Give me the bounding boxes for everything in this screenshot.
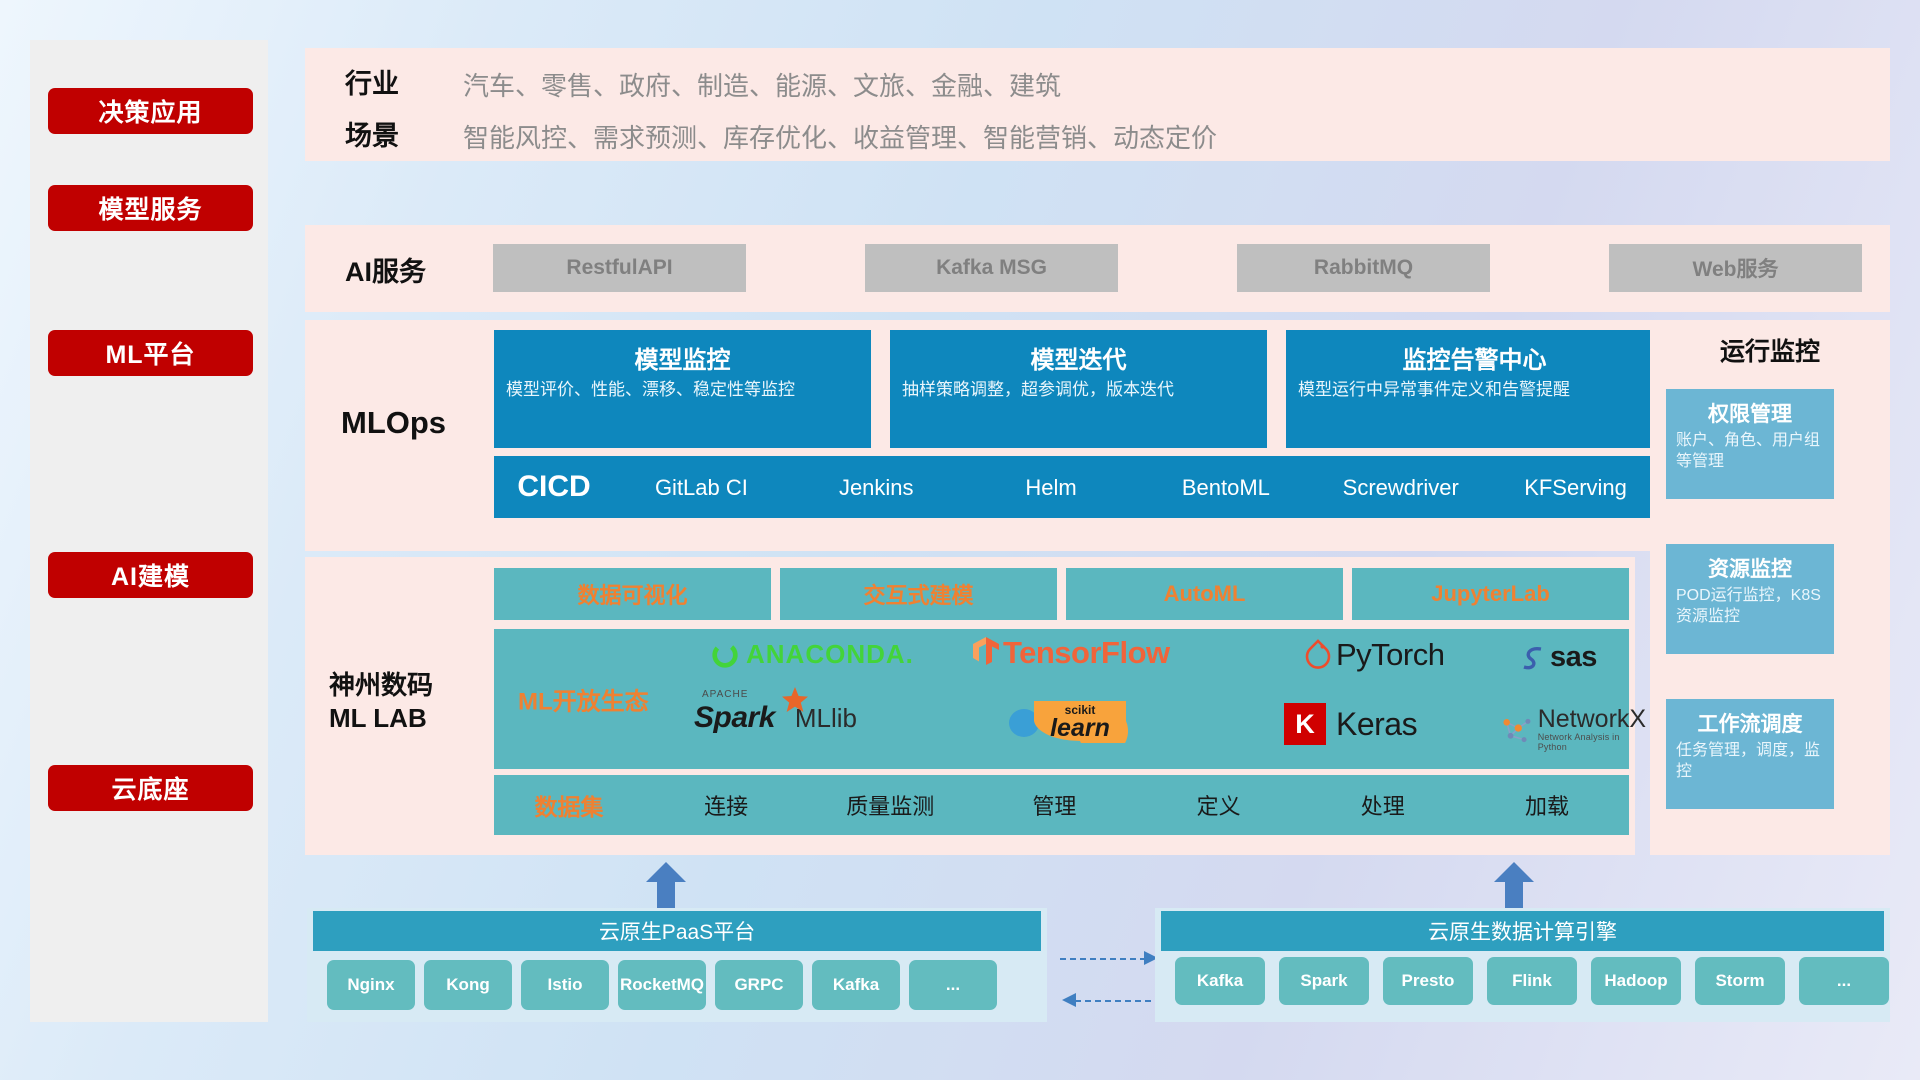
engine-chip-presto[interactable]: Presto [1383, 957, 1473, 1005]
paas-chip-istio[interactable]: Istio [521, 960, 609, 1010]
monitoring-card-workflow[interactable]: 工作流调度 任务管理，调度，监控 [1666, 699, 1834, 809]
mlops-card-desc: 模型评价、性能、漂移、稳定性等监控 [494, 379, 871, 402]
stage-label: ML平台 [105, 335, 195, 371]
industry-row-value: 汽车、零售、政府、制造、能源、文旅、金融、建筑 [463, 66, 1061, 103]
tensorflow-mark-icon [972, 636, 1000, 670]
stage-chip-cloud-base[interactable]: 云底座 [48, 765, 253, 811]
paas-chip-grpc[interactable]: GRPC [715, 960, 803, 1010]
industry-row-label: 行业 [345, 62, 399, 101]
ml-ecosystem-block: ML开放生态 ANACONDA. [494, 629, 1629, 769]
networkx-logo-text: NetworkX [1538, 707, 1648, 732]
scenario-row-label: 场景 [345, 114, 399, 153]
dataset-label: 数据集 [494, 788, 644, 822]
mlops-card-title: 监控告警中心 [1286, 330, 1663, 379]
pytorch-mark-icon [1304, 639, 1332, 671]
service-chip-restfulapi[interactable]: RestfulAPI [493, 244, 746, 292]
dataset-item-quality-monitor[interactable]: 质量监测 [808, 789, 972, 821]
ml-lab-title-line1: 神州数码 [329, 669, 433, 702]
keras-logo: K Keras [1284, 703, 1417, 745]
stage-chip-ml-platform[interactable]: ML平台 [48, 330, 253, 376]
paas-chip-rocketmq[interactable]: RocketMQ [618, 960, 706, 1010]
dataset-item-manage[interactable]: 管理 [972, 789, 1136, 821]
cicd-title: CICD [494, 456, 614, 504]
engine-chip-flink[interactable]: Flink [1487, 957, 1577, 1005]
stage-chip-ai-modeling[interactable]: AI建模 [48, 552, 253, 598]
monitoring-column: 运行监控 权限管理 账户、角色、用户组等管理 资源监控 POD运行监控，K8S资… [1650, 320, 1890, 855]
monitoring-card-permission[interactable]: 权限管理 账户、角色、用户组等管理 [1666, 389, 1834, 499]
sas-mark-icon [1519, 643, 1549, 673]
ai-service-band: AI服务 RestfulAPI Kafka MSG RabbitMQ Web服务 [305, 225, 1890, 312]
anaconda-logo-text: ANACONDA. [746, 639, 914, 670]
stage-label: 云底座 [111, 770, 189, 806]
dataset-item-connect[interactable]: 连接 [644, 789, 808, 821]
dataset-item-process[interactable]: 处理 [1301, 789, 1465, 821]
paas-chip-nginx[interactable]: Nginx [327, 960, 415, 1010]
paas-chip-kafka[interactable]: Kafka [812, 960, 900, 1010]
paas-title-bar: 云原生PaaS平台 [313, 911, 1041, 951]
stage-label: 模型服务 [98, 190, 202, 226]
lab-module-interactive-modeling[interactable]: 交互式建模 [780, 568, 1057, 620]
engine-title-bar: 云原生数据计算引擎 [1161, 911, 1884, 951]
service-chip-kafka-msg[interactable]: Kafka MSG [865, 244, 1118, 292]
monitoring-card-desc: 任务管理，调度，监控 [1666, 741, 1834, 783]
dataset-item-define[interactable]: 定义 [1137, 789, 1301, 821]
pytorch-logo-text: PyTorch [1336, 637, 1444, 673]
spark-apache-text: APACHE [702, 689, 748, 700]
monitoring-card-desc: POD运行监控，K8S资源监控 [1666, 586, 1834, 628]
networkx-tagline: Network Analysis in Python [1538, 732, 1648, 752]
tensorflow-logo: TensorFlow [972, 635, 1170, 671]
monitoring-title: 运行监控 [1650, 320, 1890, 368]
dataset-row: 数据集 连接 质量监测 管理 定义 处理 加载 [494, 775, 1629, 835]
cicd-item-screwdriver[interactable]: Screwdriver [1313, 456, 1488, 500]
mlops-label: MLOps [341, 405, 446, 441]
cicd-bar: CICD GitLab CI Jenkins Helm BentoML Scre… [494, 456, 1663, 518]
engine-chip-storm[interactable]: Storm [1695, 957, 1785, 1005]
monitoring-card-resource[interactable]: 资源监控 POD运行监控，K8S资源监控 [1666, 544, 1834, 654]
paas-chip-more[interactable]: ... [909, 960, 997, 1010]
paas-up-arrow-icon [646, 862, 686, 908]
ml-lab-band: 神州数码 ML LAB 数据可视化 交互式建模 AutoML JupyterLa… [305, 557, 1635, 855]
stage-chip-model-service[interactable]: 模型服务 [48, 185, 253, 231]
mlops-card-model-monitoring[interactable]: 模型监控 模型评价、性能、漂移、稳定性等监控 [494, 330, 871, 448]
pytorch-logo: PyTorch [1304, 637, 1444, 673]
cicd-item-kfserving[interactable]: KFServing [1488, 456, 1663, 500]
dataset-item-load[interactable]: 加载 [1465, 789, 1629, 821]
mlops-card-title: 模型监控 [494, 330, 871, 379]
mlops-card-alert-center[interactable]: 监控告警中心 模型运行中异常事件定义和告警提醒 [1286, 330, 1663, 448]
stage-chip-decision[interactable]: 决策应用 [48, 88, 253, 134]
engine-up-arrow-icon [1494, 862, 1534, 908]
spark-logo-text: Spark [694, 701, 775, 734]
stage-label: 决策应用 [98, 93, 202, 129]
ml-lab-title-line2: ML LAB [329, 702, 433, 735]
engine-chip-more[interactable]: ... [1799, 957, 1889, 1005]
architecture-diagram: 决策应用 模型服务 ML平台 AI建模 云底座 行业 汽车、零售、政府、制造、能… [0, 0, 1920, 1080]
mlops-card-title: 模型迭代 [890, 330, 1267, 379]
lab-module-data-visualization[interactable]: 数据可视化 [494, 568, 771, 620]
anaconda-mark-icon [710, 640, 740, 670]
lab-module-jupyterlab[interactable]: JupyterLab [1352, 568, 1629, 620]
cicd-item-jenkins[interactable]: Jenkins [789, 456, 964, 500]
anaconda-logo: ANACONDA. [710, 639, 914, 670]
monitoring-card-title: 资源监控 [1666, 544, 1834, 586]
lab-module-automl[interactable]: AutoML [1066, 568, 1343, 620]
sas-logo-text: sas [1550, 641, 1597, 674]
scikit-learn-logo: scikit learn [1006, 701, 1128, 741]
connector-left-arrow-line [1075, 1000, 1161, 1002]
spark-star-icon [780, 685, 810, 715]
ml-lab-title: 神州数码 ML LAB [329, 669, 433, 734]
connector-left-arrow-head-icon [1060, 992, 1076, 1008]
cicd-item-helm[interactable]: Helm [964, 456, 1139, 500]
keras-logo-text: Keras [1336, 706, 1417, 743]
paas-chip-kong[interactable]: Kong [424, 960, 512, 1010]
connector-right-arrow-line [1060, 958, 1146, 960]
service-chip-web-service[interactable]: Web服务 [1609, 244, 1862, 292]
keras-badge-icon: K [1284, 703, 1326, 745]
engine-chip-hadoop[interactable]: Hadoop [1591, 957, 1681, 1005]
mlops-card-desc: 模型运行中异常事件定义和告警提醒 [1286, 379, 1663, 402]
monitoring-card-desc: 账户、角色、用户组等管理 [1666, 431, 1834, 473]
stage-label: AI建模 [111, 557, 190, 593]
mlops-card-desc: 抽样策略调整，超参调优，版本迭代 [890, 379, 1267, 402]
engine-chip-spark[interactable]: Spark [1279, 957, 1369, 1005]
monitoring-card-title: 工作流调度 [1666, 699, 1834, 741]
monitoring-card-title: 权限管理 [1666, 389, 1834, 431]
cicd-item-bentoml[interactable]: BentoML [1138, 456, 1313, 500]
networkx-logo: NetworkX Network Analysis in Python [1499, 707, 1647, 752]
learn-text: learn [1032, 717, 1128, 741]
mlops-card-model-iteration[interactable]: 模型迭代 抽样策略调整，超参调优，版本迭代 [890, 330, 1267, 448]
engine-chip-kafka[interactable]: Kafka [1175, 957, 1265, 1005]
scenario-row-value: 智能风控、需求预测、库存优化、收益管理、智能营销、动态定价 [463, 118, 1217, 155]
cicd-item-gitlab-ci[interactable]: GitLab CI [614, 456, 789, 500]
spark-mllib-logo: APACHE Spark MLlib [694, 701, 857, 735]
ai-service-label: AI服务 [345, 250, 426, 289]
tensorflow-logo-text: TensorFlow [1003, 635, 1170, 671]
sas-logo: sas [1519, 641, 1597, 674]
application-band: 行业 汽车、零售、政府、制造、能源、文旅、金融、建筑 场景 智能风控、需求预测、… [305, 48, 1890, 161]
service-chip-rabbitmq[interactable]: RabbitMQ [1237, 244, 1490, 292]
networkx-graph-icon [1499, 712, 1534, 748]
